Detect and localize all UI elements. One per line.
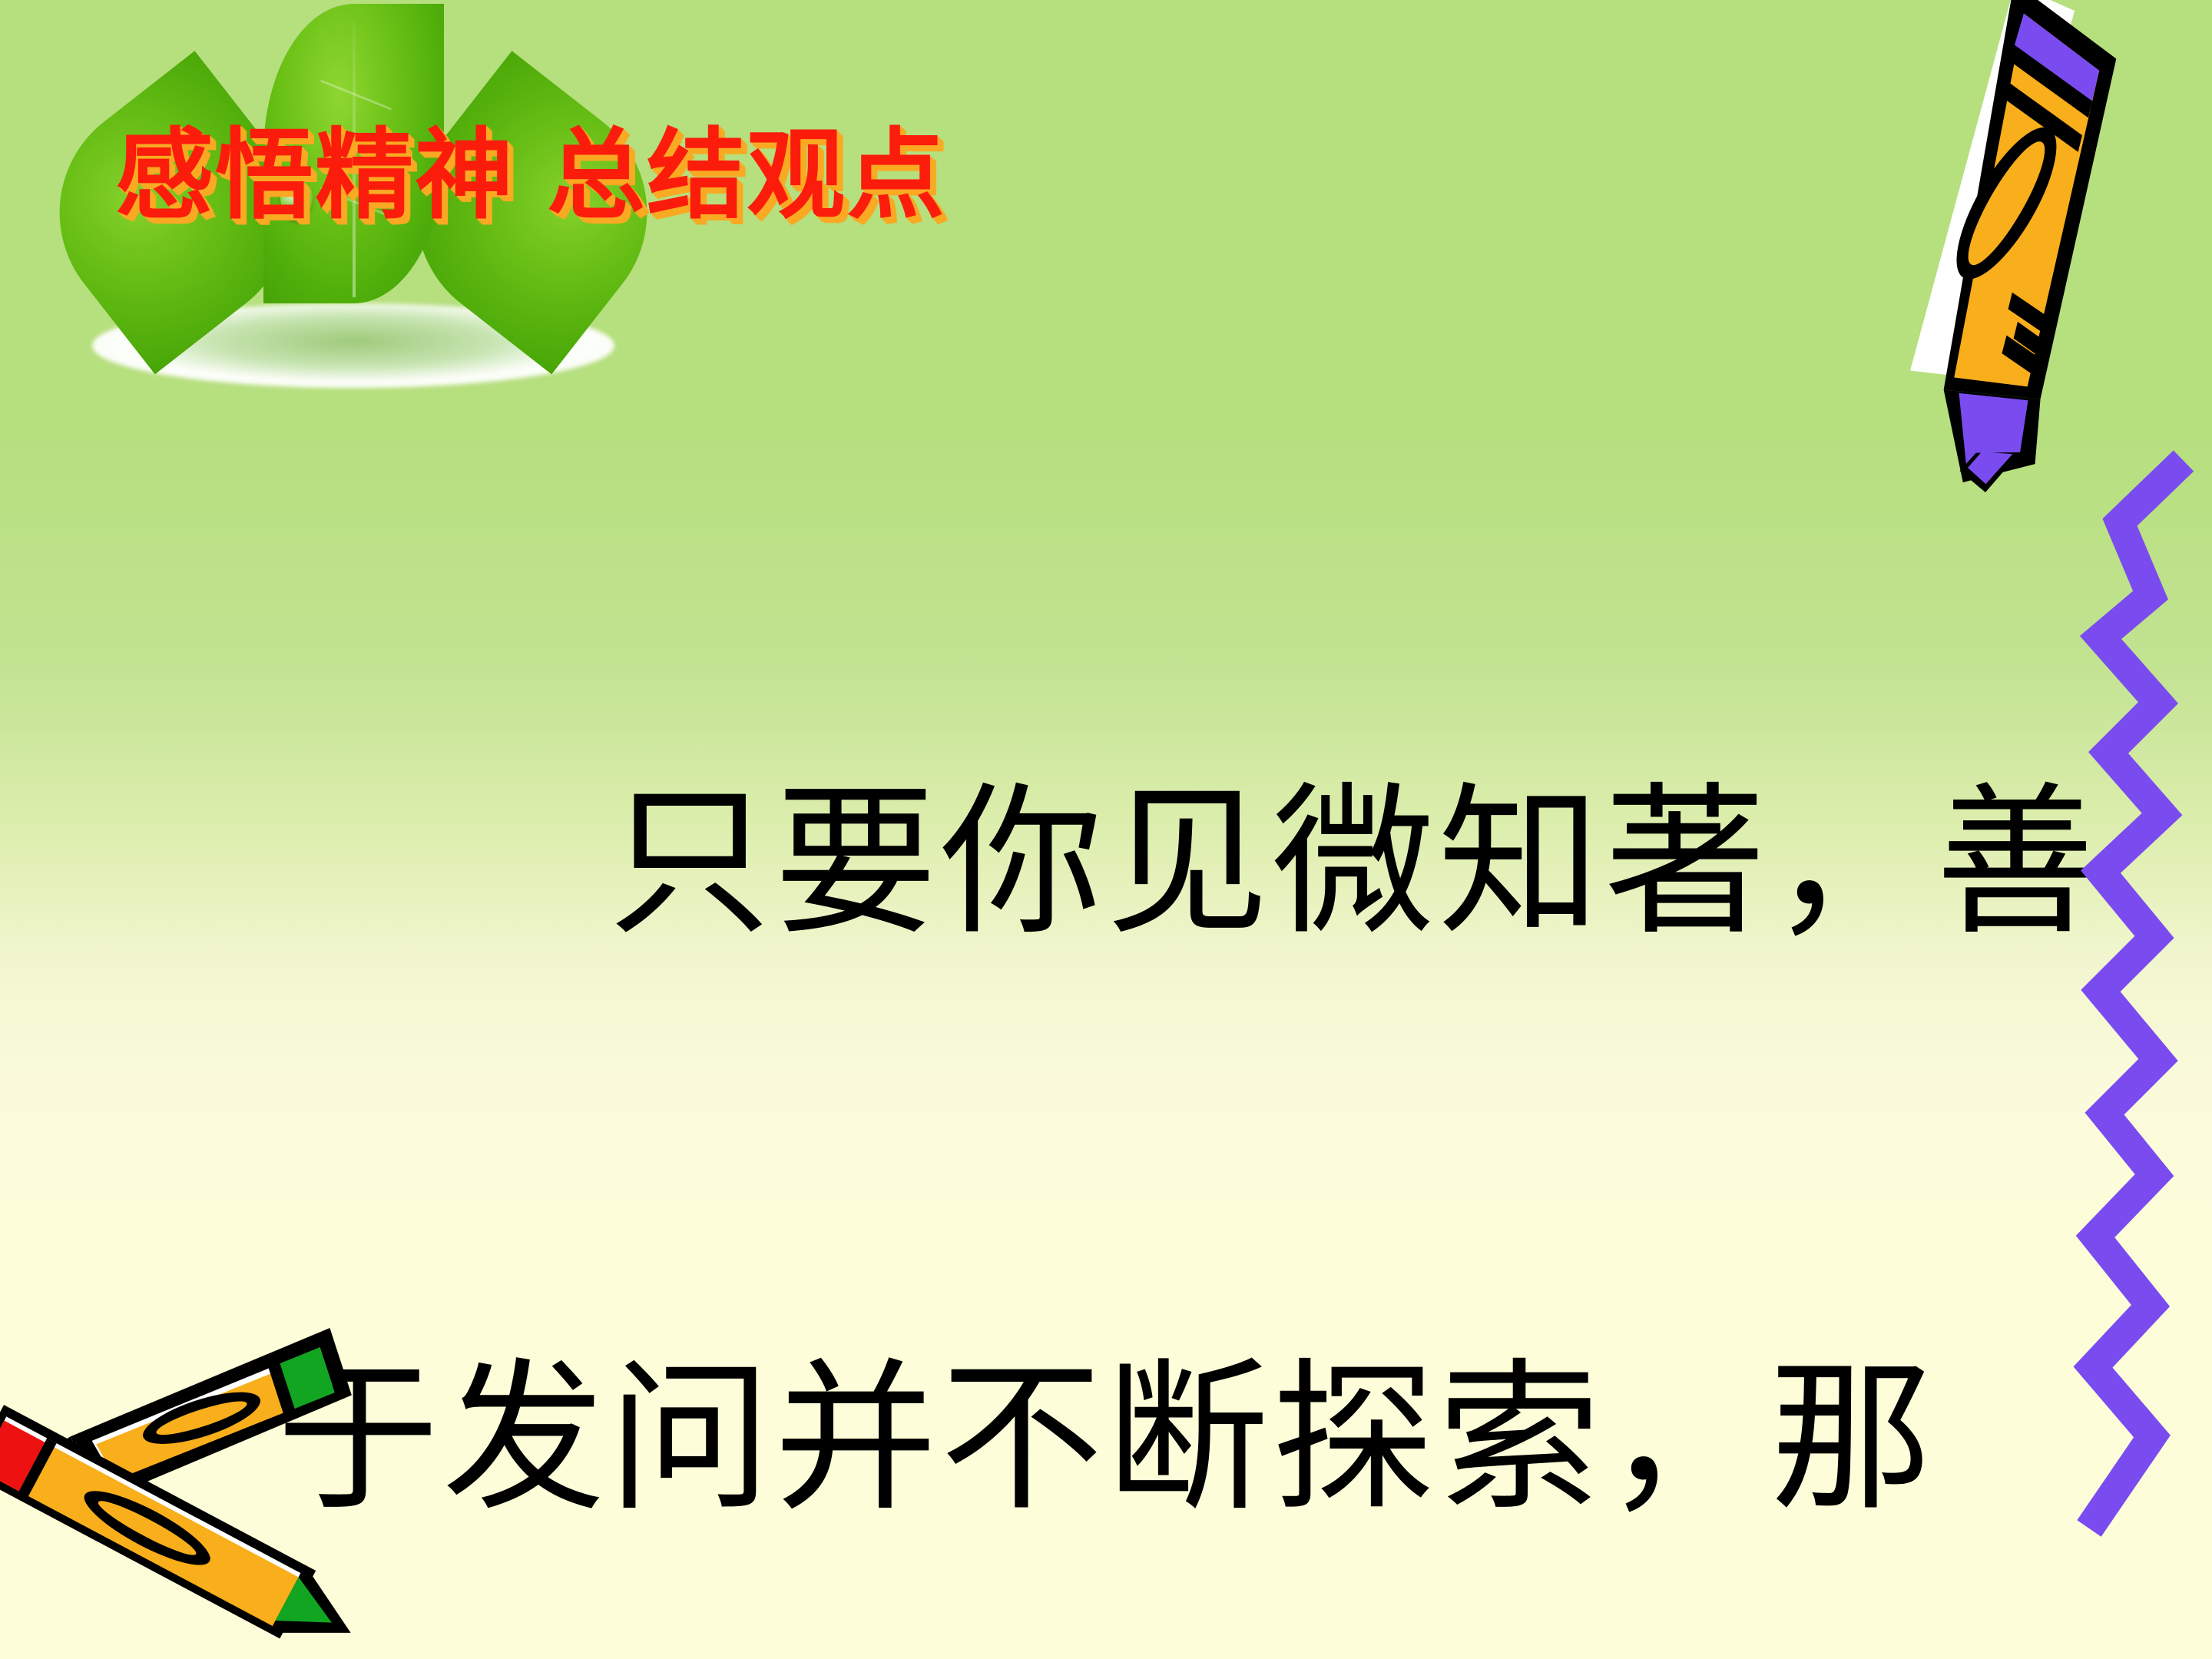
body-line-2: 于发问并不断探索，那 xyxy=(276,1344,1974,1536)
page-title-part2: 总结观点 xyxy=(547,118,946,233)
page-title: 感悟精神总结观点 xyxy=(115,127,946,225)
orange-crayon-purple-tip xyxy=(1790,0,2212,522)
body-line-1: 只要你见微知著，善 xyxy=(276,768,1974,960)
body-paragraph: 只要你见微知著，善 于发问并不断探索，那 么，当你解答了若干个 问号之后，就能发… xyxy=(276,384,1974,1659)
page-title-part1: 感悟精神 xyxy=(115,118,515,233)
crossed-crayons-clipart xyxy=(0,1306,422,1659)
purple-zigzag-scribble xyxy=(1966,445,2212,1582)
presentation-slide: 感悟精神总结观点 只要你见微知著，善 于发问并不断探索，那 么，当你解答了若干个… xyxy=(0,0,2212,1659)
